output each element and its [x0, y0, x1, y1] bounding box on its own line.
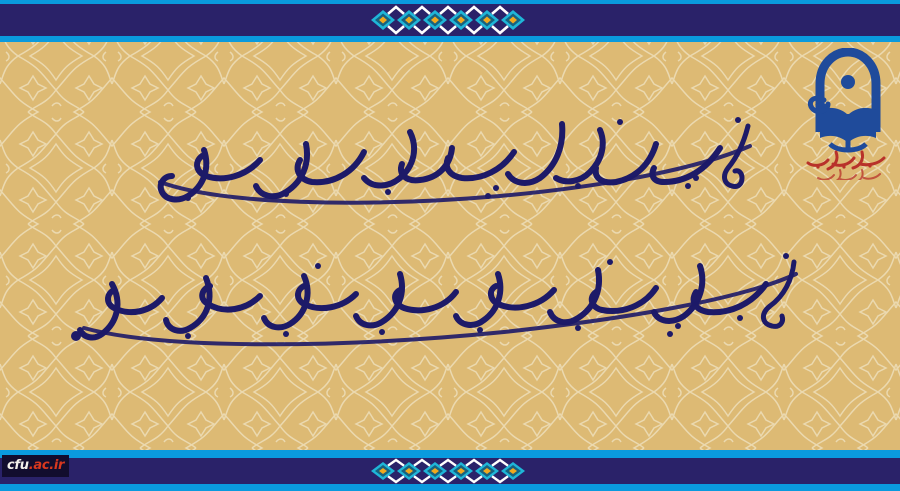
watermark-primary-text: cfu — [7, 459, 29, 472]
watermark-secondary-text: .ac.ir — [29, 459, 64, 472]
announcement-banner: نتایج آخرین آزمون جامع جبرانی — [0, 0, 900, 491]
university-emblem: دانشگاه فرهنگیان روابط عمومی سازمان مرکز… — [800, 48, 896, 180]
bottom-band-cyan-stripe-upper — [0, 450, 900, 458]
bottom-band-diamond-motif — [370, 458, 532, 484]
emblem-dot — [841, 75, 855, 89]
site-watermark: cfu .ac.ir — [2, 455, 69, 477]
headline-line-2: سری پنجم و افراد جامانده از دوره های قبل… — [0, 240, 900, 350]
headline-line-1-calligraphy: نتایج آخرین آزمون جامع جبرانی — [100, 108, 800, 218]
top-ornamental-band — [0, 0, 900, 42]
farhangian-university-logo: دانشگاه فرهنگیان روابط عمومی سازمان مرکز… — [800, 48, 896, 180]
top-band-diamond-motif — [370, 4, 532, 36]
headline-line-1: نتایج آخرین آزمون جامع جبرانی — [0, 108, 900, 218]
top-band-cyan-stripe-lower — [0, 36, 900, 42]
emblem-book-right — [849, 108, 876, 142]
bottom-band-cyan-stripe-lower — [0, 484, 900, 491]
bottom-ornamental-band — [0, 450, 900, 491]
headline-line-2-calligraphy: سری پنجم و افراد جامانده از دوره های قبل… — [50, 240, 850, 350]
